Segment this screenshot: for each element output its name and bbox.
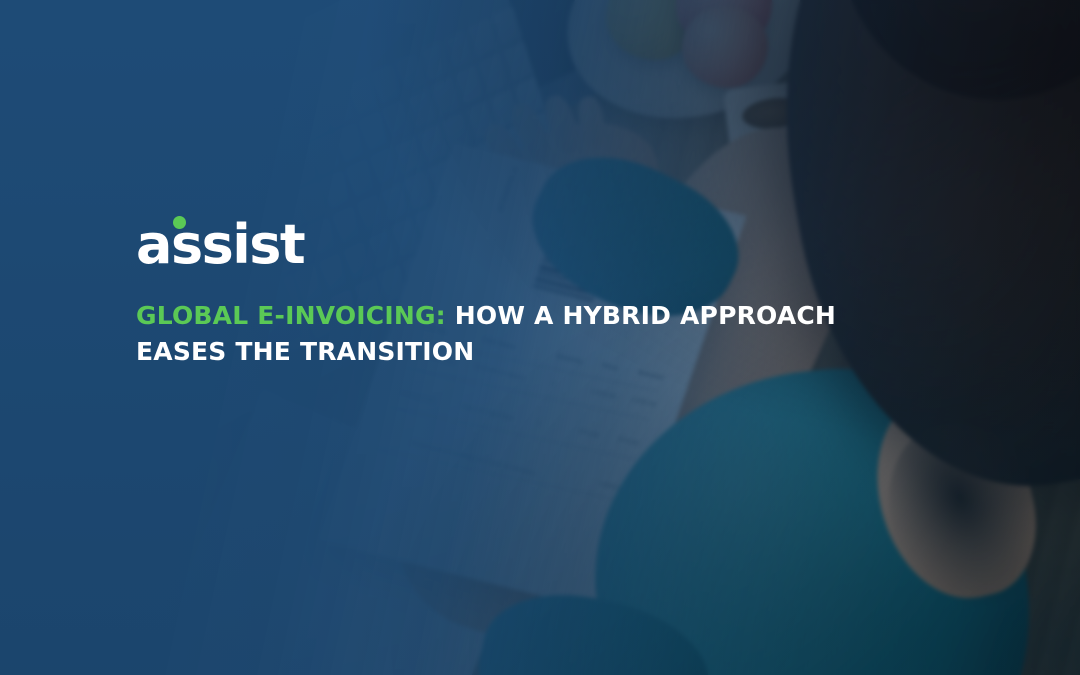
- headline-accent: GLOBAL E-INVOICING:: [136, 301, 446, 330]
- assist-logo: assist: [136, 218, 896, 276]
- logo-dot-icon: [173, 216, 186, 229]
- page-title: GLOBAL E-INVOICING: HOW A HYBRID APPROAC…: [136, 298, 866, 369]
- logo-wordmark: assist: [136, 218, 304, 272]
- blog-banner: AP0009842 Item No. Item Name Quantity Pr…: [0, 0, 1080, 675]
- banner-content: assist GLOBAL E-INVOICING: HOW A HYBRID …: [136, 218, 896, 369]
